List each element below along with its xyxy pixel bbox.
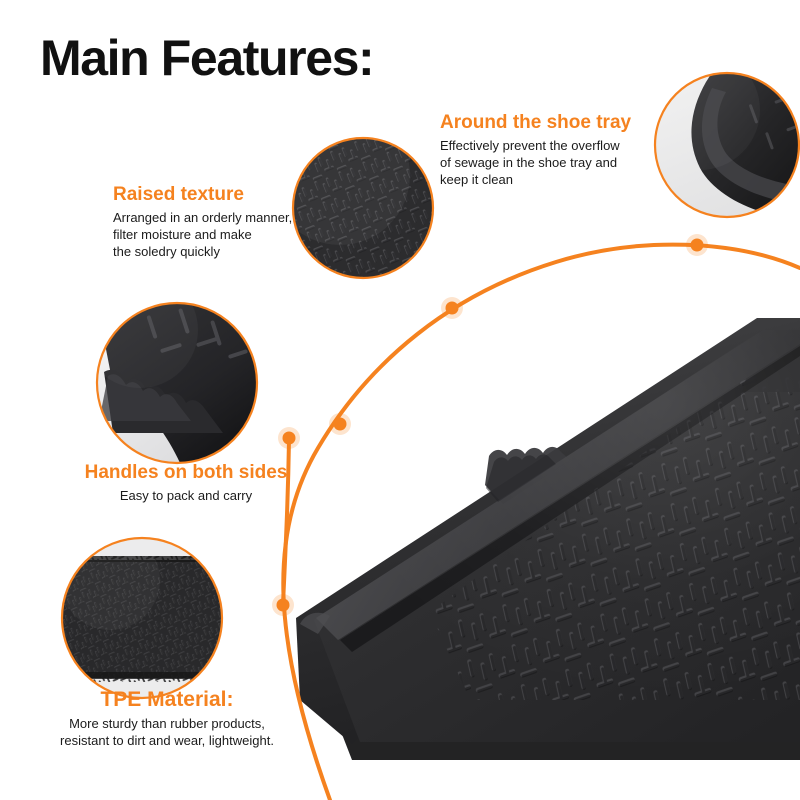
feature-block-shoe-tray: Around the shoe tray Effectively prevent… xyxy=(440,112,631,189)
feature-body-tpe-material: More sturdy than rubber products, resist… xyxy=(32,716,302,750)
feature-body-line: filter moisture and make xyxy=(113,227,292,244)
feature-block-tpe-material: TPE Material: More sturdy than rubber pr… xyxy=(32,688,302,750)
feature-body-line: keep it clean xyxy=(440,172,631,189)
feature-block-raised-texture: Raised texture Arranged in an orderly ma… xyxy=(113,184,292,261)
feature-body-shoe-tray: Effectively prevent the overflow of sewa… xyxy=(440,138,631,189)
page-title: Main Features: xyxy=(40,32,373,85)
feature-body-line: Arranged in an orderly manner, xyxy=(113,210,292,227)
feature-body-handles: Easy to pack and carry xyxy=(70,488,302,505)
feature-body-line: Effectively prevent the overflow xyxy=(440,138,631,155)
feature-body-line: Easy to pack and carry xyxy=(70,488,302,505)
feature-heading-handles: Handles on both sides xyxy=(70,462,302,484)
feature-body-line: resistant to dirt and wear, lightweight. xyxy=(32,733,302,750)
feature-heading-tpe-material: TPE Material: xyxy=(32,688,302,712)
feature-body-raised-texture: Arranged in an orderly manner, filter mo… xyxy=(113,210,292,261)
feature-block-handles: Handles on both sides Easy to pack and c… xyxy=(70,462,302,505)
feature-heading-shoe-tray: Around the shoe tray xyxy=(440,112,631,134)
feature-body-line: the soledry quickly xyxy=(113,244,292,261)
product-feature-infographic: Main Features: Around the shoe tray Effe… xyxy=(0,0,800,800)
feature-body-line: More sturdy than rubber products, xyxy=(32,716,302,733)
feature-body-line: of sewage in the shoe tray and xyxy=(440,155,631,172)
feature-heading-raised-texture: Raised texture xyxy=(113,184,292,206)
